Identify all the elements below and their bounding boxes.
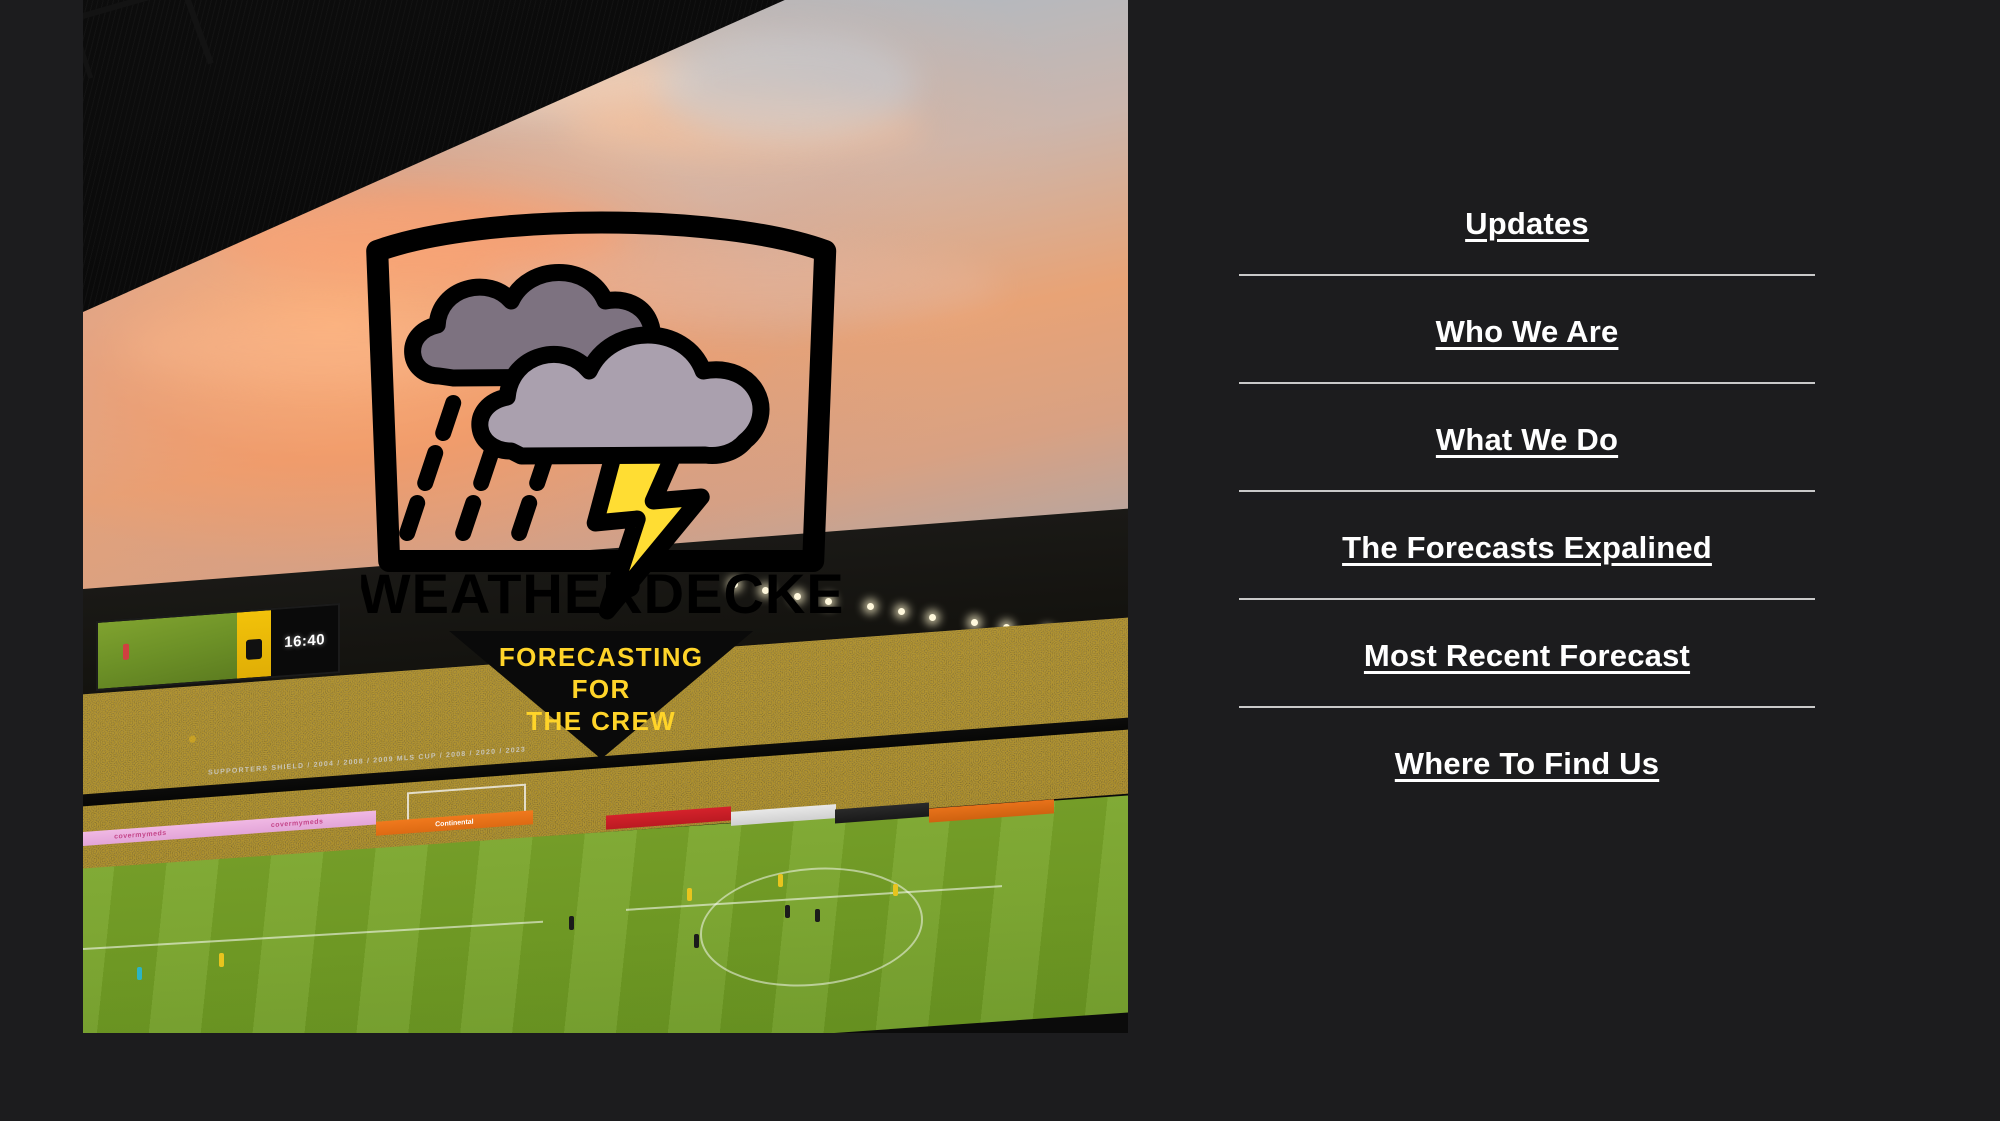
player-home <box>893 884 898 896</box>
player-away <box>785 905 790 918</box>
floodlight-icon <box>971 619 978 626</box>
nav-item-who-we-are[interactable]: Who We Are <box>1239 276 1815 382</box>
nav-item-updates[interactable]: Updates <box>1239 168 1815 274</box>
nav-item-where-to-find-us[interactable]: Where To Find Us <box>1239 708 1815 814</box>
player-home <box>219 953 224 967</box>
floodlight-icon <box>762 587 769 594</box>
main-navigation: Updates Who We Are What We Do The Foreca… <box>1128 0 2000 1121</box>
nav-item-the-forecasts-explained[interactable]: The Forecasts Expalined <box>1239 492 1815 598</box>
roof-beam <box>83 0 418 31</box>
player-away <box>694 934 699 948</box>
player-home <box>687 888 692 901</box>
player-home <box>778 874 783 887</box>
scoreboard-video-panel <box>98 612 237 688</box>
roof-beam <box>177 0 214 65</box>
floodlight-icon <box>825 598 832 605</box>
nav-item-most-recent-forecast[interactable]: Most Recent Forecast <box>1239 600 1815 706</box>
match-official <box>137 967 142 980</box>
floodlight-icon <box>731 581 738 588</box>
ad-board-orange-text: Continental <box>435 818 474 828</box>
floodlight-icon <box>794 593 801 600</box>
floodlight-icon <box>867 603 874 610</box>
nav-item-what-we-do[interactable]: What We Do <box>1239 384 1815 490</box>
ad-board-pink-text-2: covermymeds <box>271 818 324 829</box>
cloud-wisp-icon <box>480 245 1000 325</box>
scoreboard-clock: 16:40 <box>284 630 325 650</box>
cloud-wisp-icon <box>658 30 918 140</box>
hero-stadium-image: 16:40 SUPPORTERS SHIELD / 2004 / 2008 / … <box>83 0 1128 1033</box>
page-root: 16:40 SUPPORTERS SHIELD / 2004 / 2008 / … <box>0 0 2000 1121</box>
navigation-list: Updates Who We Are What We Do The Foreca… <box>1239 168 1815 814</box>
ad-board-pink-text-1: covermymeds <box>114 830 167 841</box>
scoreboard-crew-badge <box>237 610 271 679</box>
cloud-wisp-icon <box>125 312 505 382</box>
player-away <box>569 916 574 930</box>
scoreboard-clock-panel: 16:40 <box>271 605 338 676</box>
player-away <box>815 909 820 922</box>
